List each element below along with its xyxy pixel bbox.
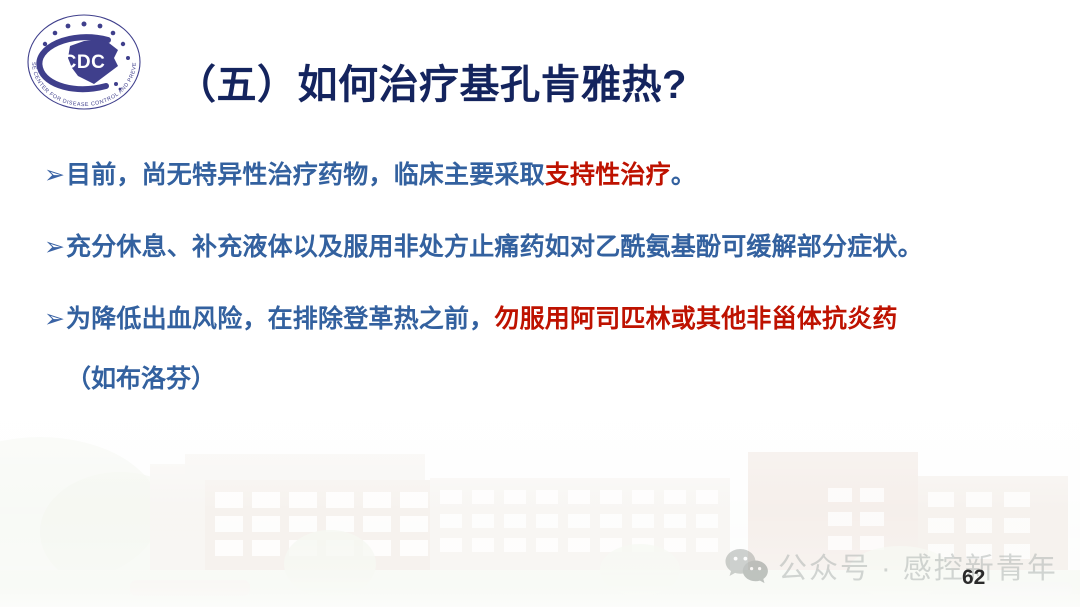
arrow-bullet-icon: ➢: [44, 302, 66, 336]
bullet-item-1-text: 目前，尚无特异性治疗药物，临床主要采取支持性治疗。: [66, 158, 1054, 192]
bullet-item-2: ➢ 充分休息、补充液体以及服用非处方止痛药如对乙酰氨基酚可缓解部分症状。: [44, 230, 1054, 264]
slide-body: ➢ 目前，尚无特异性治疗药物，临床主要采取支持性治疗。 ➢ 充分休息、补充液体以…: [44, 158, 1054, 396]
wechat-icon: [724, 547, 770, 585]
bullet-item-3-text: 为降低出血风险，在排除登革热之前，勿服用阿司匹林或其他非甾体抗炎药: [66, 302, 1054, 336]
bullet-item-3: ➢ 为降低出血风险，在排除登革热之前，勿服用阿司匹林或其他非甾体抗炎药: [44, 302, 1054, 336]
page-title: （五）如何治疗基孔肯雅热?: [176, 52, 687, 110]
bullet-1-segment-1: 目前，尚无特异性治疗药物，临床主要采取: [66, 161, 545, 189]
bullet-3-segment-2-emphasis: 勿服用阿司匹林或其他非甾体抗炎药: [494, 305, 897, 333]
bullet-item-1: ➢ 目前，尚无特异性治疗药物，临床主要采取支持性治疗。: [44, 158, 1054, 192]
bullet-1-segment-2-emphasis: 支持性治疗: [545, 161, 671, 189]
bullet-item-2-text: 充分休息、补充液体以及服用非处方止痛药如对乙酰氨基酚可缓解部分症状。: [66, 230, 1054, 264]
bullet-1-segment-3: 。: [671, 161, 696, 189]
page-number: 62: [962, 566, 985, 590]
background-building-photo: [0, 392, 1080, 607]
bullet-3-segment-1: 为降低出血风险，在排除登革热之前，: [66, 305, 494, 333]
slide-canvas: CDC CHINESE CENTER FOR DISEASE CONTROL A…: [0, 0, 1080, 607]
china-cdc-logo: CDC CHINESE CENTER FOR DISEASE CONTROL A…: [14, 6, 154, 118]
svg-text:CDC: CDC: [63, 52, 106, 73]
background-photo-fade-overlay: [0, 392, 1080, 607]
wechat-watermark: 公众号 · 感控新青年: [724, 545, 1058, 587]
arrow-bullet-icon: ➢: [44, 230, 66, 264]
bullet-item-3-continuation: （如布洛芬）: [44, 362, 1054, 396]
watermark-label: 公众号 · 感控新青年: [778, 545, 1058, 587]
bullet-2-segment-1: 充分休息、补充液体以及服用非处方止痛药如对乙酰氨基酚可缓解部分症状。: [66, 233, 923, 261]
arrow-bullet-icon: ➢: [44, 158, 66, 192]
